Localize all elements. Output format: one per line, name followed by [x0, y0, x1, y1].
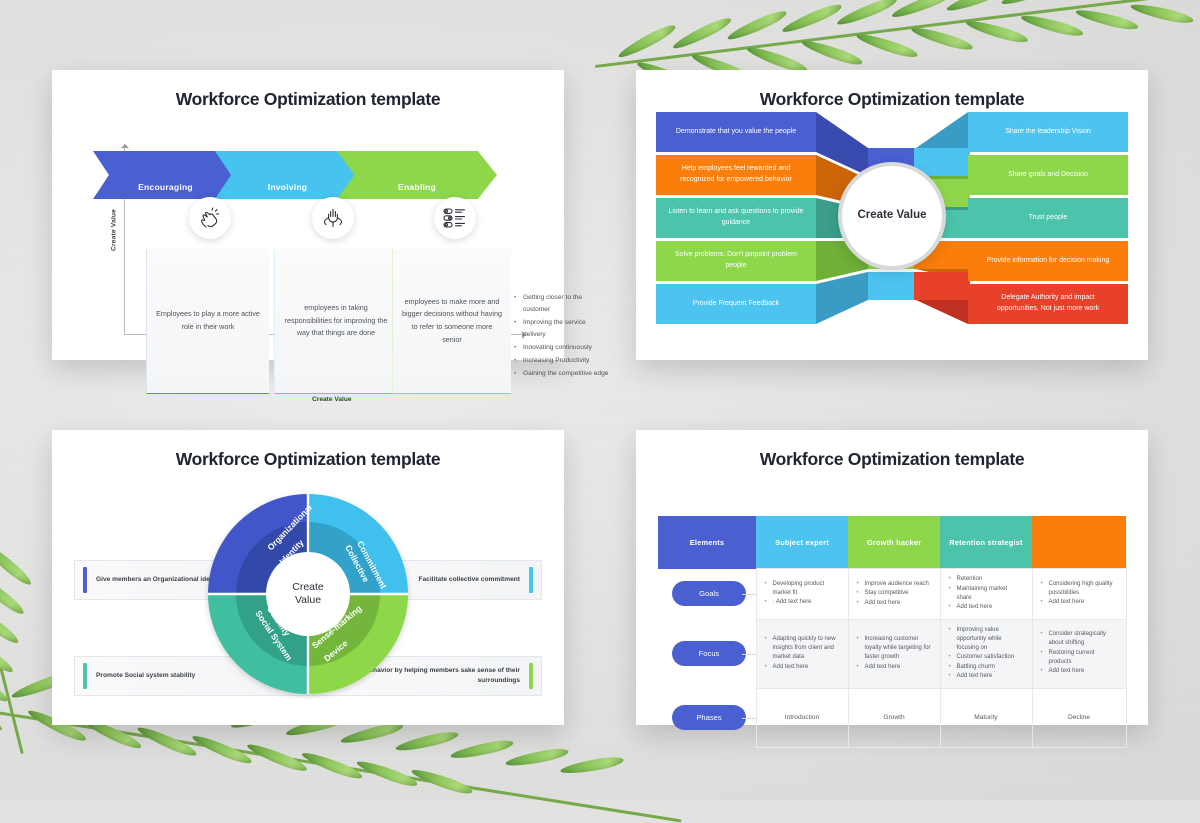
table-row: Phases Introduction Growth Maturity Decl…	[658, 688, 1126, 747]
cell-goals-retention: Retention Maintaining market share Add t…	[940, 569, 1032, 620]
comparison-table[interactable]: Elements Subject expert Growth hacker Re…	[658, 516, 1127, 748]
list-item: Retention	[957, 575, 1024, 584]
left-item-text: Solve problems: Don't pinpoint problem p…	[668, 250, 804, 272]
stage-label: Enabling	[398, 182, 436, 199]
stage-body: employees to make more and bigger decisi…	[393, 296, 511, 346]
list-item: Getting closer to the customer	[523, 292, 610, 316]
row-label-phases[interactable]: Phases	[658, 688, 756, 747]
slide2-title: Workforce Optimization template	[636, 70, 1148, 110]
right-item-2[interactable]: Share goals and Decision	[968, 155, 1128, 195]
left-item-2[interactable]: Help employees feel rewarded and recogni…	[656, 155, 816, 195]
y-axis-label: Create Value	[111, 209, 118, 251]
col-header-elements[interactable]: Elements	[658, 516, 756, 569]
slide3-title: Workforce Optimization template	[52, 430, 564, 470]
row-label-goals[interactable]: Goals	[658, 569, 756, 620]
slide2-body: Demonstrate that you value the people He…	[636, 110, 1148, 345]
left-item-text: Provide Frequent Feedback	[693, 299, 779, 310]
list-item: Developing product market fit	[773, 580, 840, 598]
stage-panel-enabling: employees to make more and bigger decisi…	[392, 249, 511, 394]
col-header-subject-expert[interactable]: Subject expert	[756, 516, 848, 569]
stage-label: Encouraging	[138, 182, 193, 199]
right-item-text: Provide information for decision making	[987, 256, 1110, 267]
list-item: Consider strategically about shifting	[1049, 630, 1118, 648]
stage-panel-encouraging: Employees to play a more active role in …	[146, 249, 269, 394]
right-item-text: Share the leadership Vision	[1005, 127, 1090, 138]
slide-comparison-table[interactable]: Workforce Optimization template Elements…	[636, 430, 1148, 725]
cell-phases-retention: Maturity	[940, 688, 1032, 747]
cell-goals-growth: Improve audience reach Stay competitive …	[848, 569, 940, 620]
list-item: Add text here	[1049, 667, 1118, 676]
list-item: Gaining the competitive edge	[523, 368, 610, 380]
donut-center-line2: Value	[295, 594, 321, 606]
slide4-body: Elements Subject expert Growth hacker Re…	[636, 470, 1148, 710]
list-item: · Add text here	[773, 598, 840, 607]
pill-focus[interactable]: Focus	[672, 641, 746, 666]
list-item: Add text here	[1049, 598, 1118, 607]
right-item-5[interactable]: Delegate Authority and impact opportunit…	[968, 284, 1128, 324]
left-item-text: Demonstrate that you value the people	[676, 127, 796, 138]
hub-label: Create Value	[857, 208, 926, 224]
right-item-text: Trust people	[1029, 213, 1068, 224]
left-item-5[interactable]: Provide Frequent Feedback	[656, 284, 816, 324]
stage-body: employees in taking responsibilities for…	[275, 302, 397, 340]
tag-accent	[529, 663, 533, 689]
teamwork-hands-icon	[312, 197, 354, 239]
left-item-1[interactable]: Demonstrate that you value the people	[656, 112, 816, 152]
list-item: Adapting quickly to new insights from cl…	[773, 635, 840, 662]
list-item: Add text here	[957, 603, 1024, 612]
x-axis-label: Create Value	[312, 396, 352, 403]
donut-center-line1: Create	[292, 581, 324, 593]
col-header-retention-strategist[interactable]: Retention strategist	[940, 516, 1032, 569]
cell-focus-retention: Improving value opportunity while focusi…	[940, 619, 1032, 688]
pill-goals[interactable]: Goals	[672, 581, 746, 606]
cell-focus-subject: Adapting quickly to new insights from cl…	[756, 619, 848, 688]
chevron-row: Encouraging Involving Enabling	[93, 151, 523, 199]
cell-phases-extra: Decline	[1032, 688, 1126, 747]
list-item: Considering high quality possibilities	[1049, 580, 1118, 598]
cell-focus-growth: Increasing customer loyalty while target…	[848, 619, 940, 688]
cell-phases-growth: Growth	[848, 688, 940, 747]
list-item: Add text here	[957, 672, 1024, 681]
right-item-4[interactable]: Provide information for decision making	[968, 241, 1128, 281]
stage-chevron-enabling[interactable]: Enabling	[337, 151, 497, 199]
connector-line	[742, 654, 756, 655]
right-item-text: Delegate Authority and impact opportunit…	[980, 293, 1116, 315]
col-header-blank[interactable]	[1032, 516, 1126, 569]
slide-converging-arrows[interactable]: Workforce Optimization template	[636, 70, 1148, 360]
list-item: Improve audience reach	[865, 580, 932, 589]
tag-accent	[529, 567, 533, 593]
list-item: Battling churm	[957, 663, 1024, 672]
right-item-text: Share goals and Decision	[1008, 170, 1088, 181]
stage-chevron-encouraging[interactable]: Encouraging	[93, 151, 238, 199]
donut-chart[interactable]: Create Value Organizational Identity Col…	[203, 489, 413, 699]
left-item-4[interactable]: Solve problems: Don't pinpoint problem p…	[656, 241, 816, 281]
left-item-text: Listen to learn and ask questions to pro…	[668, 207, 804, 229]
stage-body: Employees to play a more active role in …	[147, 308, 269, 333]
list-item: Increasing Productivity	[523, 355, 610, 367]
list-item: Add text here	[773, 663, 840, 672]
list-item: Add text here	[865, 663, 932, 672]
tag-text: Facilitate collective commitment	[409, 575, 529, 585]
list-item: Innovating continuously	[523, 342, 610, 354]
list-item: Add text here	[865, 599, 932, 608]
stage-label: Involving	[268, 182, 308, 199]
row-label-focus[interactable]: Focus	[658, 619, 756, 688]
slide1-title: Workforce Optimization template	[52, 70, 564, 110]
clapping-hands-icon	[189, 197, 231, 239]
create-value-hub: Create Value	[838, 162, 946, 270]
list-item: Maintaining market share	[957, 585, 1024, 603]
checklist-icon	[434, 197, 476, 239]
list-item: Restoring current products	[1049, 649, 1118, 667]
slide3-body: Give members an Organizational identity …	[52, 470, 564, 710]
list-item: Improving the service delivery	[523, 317, 610, 341]
connector-line	[742, 718, 756, 719]
outcomes-bullet-list: Getting closer to the customer Improving…	[512, 292, 610, 381]
cell-goals-subject: Developing product market fit · Add text…	[756, 569, 848, 620]
list-item: Stay competitive	[865, 589, 932, 598]
list-item: Improving value opportunity while focusi…	[957, 626, 1024, 653]
connector-line	[742, 594, 756, 595]
stage-chevron-involving[interactable]: Involving	[215, 151, 360, 199]
table-row: Goals Developing product market fit · Ad…	[658, 569, 1126, 620]
list-item: Customer satisfaction	[957, 653, 1024, 662]
table-header-row: Elements Subject expert Growth hacker Re…	[658, 516, 1126, 569]
cell-goals-extra: Considering high quality possibilities A…	[1032, 569, 1126, 620]
right-item-3[interactable]: Trust people	[968, 198, 1128, 238]
left-item-3[interactable]: Listen to learn and ask questions to pro…	[656, 198, 816, 238]
col-header-growth-hacker[interactable]: Growth hacker	[848, 516, 940, 569]
table-row: Focus Adapting quickly to new insights f…	[658, 619, 1126, 688]
slide-process-chevrons[interactable]: Workforce Optimization template Create V…	[52, 70, 564, 360]
right-item-1[interactable]: Share the leadership Vision	[968, 112, 1128, 152]
slide4-title: Workforce Optimization template	[636, 430, 1148, 470]
cell-focus-extra: Consider strategically about shifting Re…	[1032, 619, 1126, 688]
tag-text: Promote Social system stability	[87, 671, 204, 681]
left-item-text: Help employees feel rewarded and recogni…	[668, 164, 804, 186]
slide-donut-chart[interactable]: Workforce Optimization template Give mem…	[52, 430, 564, 725]
cell-phases-subject: Introduction	[756, 688, 848, 747]
pill-phases[interactable]: Phases	[672, 705, 746, 730]
stage-panel-involving: employees in taking responsibilities for…	[274, 249, 397, 394]
list-item: Increasing customer loyalty while target…	[865, 635, 932, 662]
